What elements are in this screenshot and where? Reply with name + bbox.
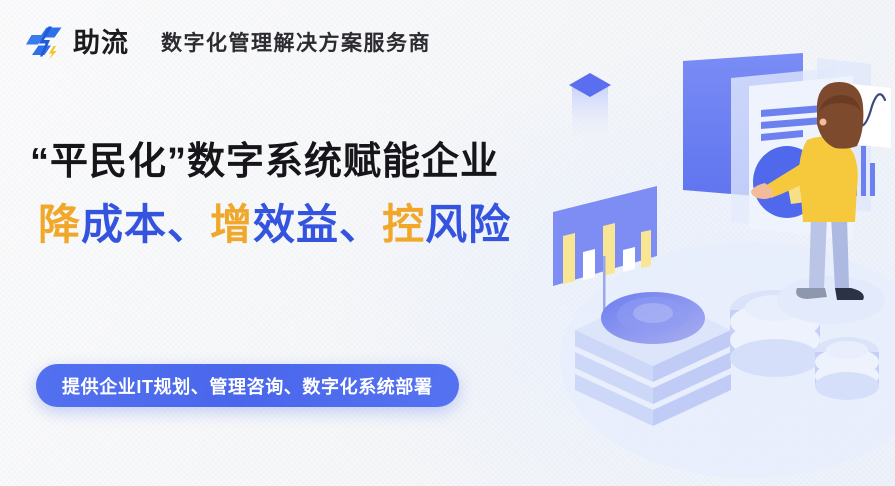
brand-header: 助流 数字化管理解决方案服务商 [26, 22, 431, 64]
subheadline-segment-2: 增 [210, 201, 253, 248]
hero-subheadline: 降成本、增效益、控风险 [38, 201, 550, 249]
page-title: “平民化”数字系统赋能企业 [30, 140, 550, 185]
subheadline-segment-4: 控 [382, 201, 425, 248]
brand-tagline: 数字化管理解决方案服务商 [161, 33, 431, 54]
lightning-bolt-logo-icon [26, 26, 66, 60]
brand-name: 助流 [73, 30, 129, 57]
business-analytics-isometric-illustration [535, 0, 895, 486]
services-cta-button[interactable]: 提供企业IT规划、管理咨询、数字化系统部署 [36, 364, 459, 407]
figure-platform [777, 276, 885, 324]
subheadline-segment-0: 降 [38, 201, 81, 248]
subheadline-segment-1: 成本、 [81, 201, 210, 248]
subheadline-segment-3: 效益、 [253, 201, 382, 248]
hero-copy: “平民化”数字系统赋能企业 降成本、增效益、控风险 [30, 140, 550, 249]
subheadline-segment-5: 风险 [425, 201, 511, 248]
floating-cube-icon [569, 73, 611, 145]
promotional-banner: 助流 数字化管理解决方案服务商 “平民化”数字系统赋能企业 降成本、增效益、控风… [0, 0, 895, 486]
